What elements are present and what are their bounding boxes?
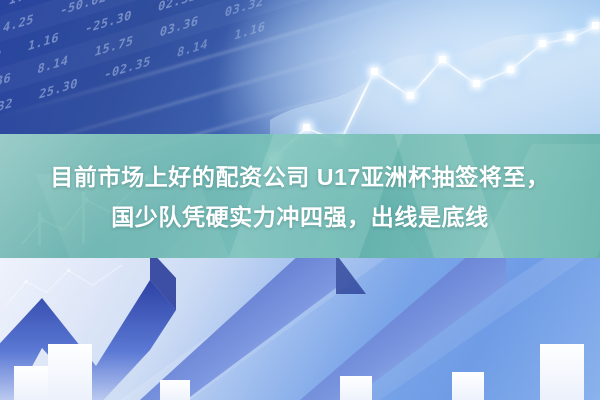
bar bbox=[14, 366, 48, 400]
chart-node bbox=[539, 40, 546, 47]
banner-image: -45.02-02.3521.3645.02-11.25-02.36-50.02… bbox=[0, 0, 600, 400]
chart-node bbox=[303, 124, 310, 131]
chart-node bbox=[407, 92, 414, 99]
headline-text-block: 目前市场上好的配资公司 U17亚洲杯抽签将至， 国少队凭硬实力冲四强，出线是底线 bbox=[0, 134, 600, 260]
headline-line-2: 国少队凭硬实力冲四强，出线是底线 bbox=[111, 200, 489, 234]
chart-node bbox=[439, 56, 446, 63]
bar bbox=[340, 376, 372, 400]
headline-line-1: 目前市场上好的配资公司 U17亚洲杯抽签将至， bbox=[50, 160, 549, 194]
bottom-arrow-chart bbox=[0, 258, 600, 400]
background-number: 02.32 bbox=[0, 89, 15, 128]
bar bbox=[48, 344, 92, 400]
mini-glow-chart-bottom bbox=[4, 258, 124, 318]
chart-node bbox=[592, 22, 599, 29]
chart-node bbox=[567, 34, 574, 41]
bar bbox=[160, 380, 190, 400]
bar bbox=[540, 344, 584, 400]
chart-node bbox=[507, 66, 514, 73]
bar bbox=[452, 372, 484, 400]
chart-node bbox=[473, 80, 480, 87]
chart-node bbox=[371, 68, 378, 75]
